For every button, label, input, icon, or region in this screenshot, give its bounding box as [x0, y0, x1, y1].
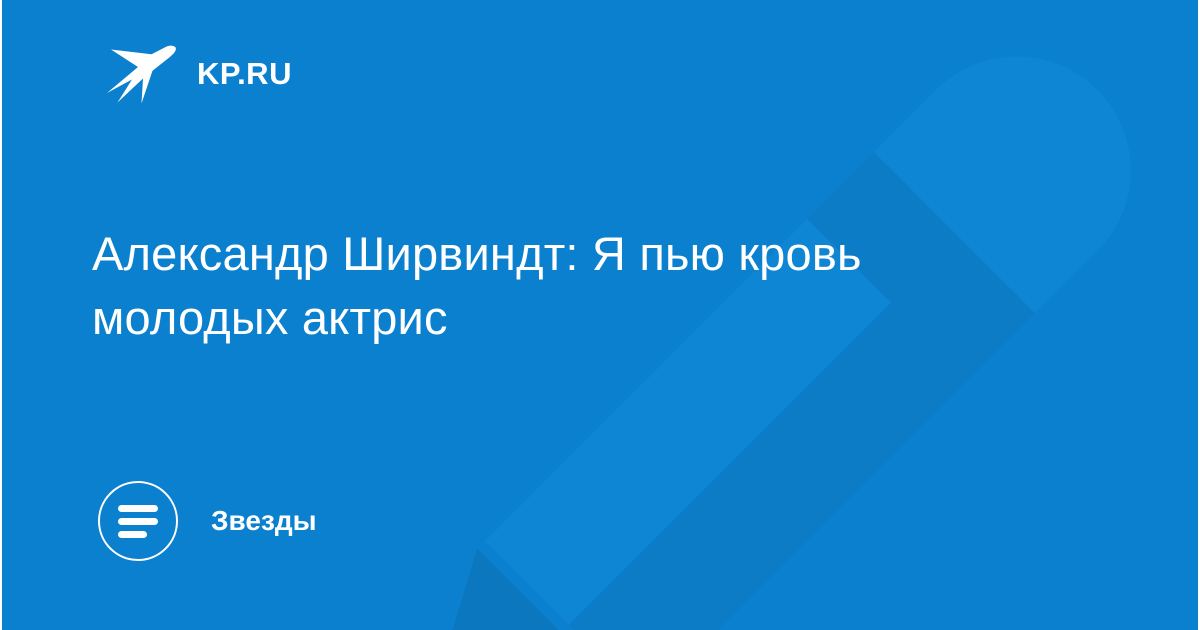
- swallow-bird-icon: [105, 37, 177, 109]
- hamburger-bar-3: [118, 531, 147, 538]
- hamburger-bar-1: [118, 505, 158, 512]
- hamburger-bar-2: [118, 518, 158, 525]
- rubric-badge[interactable]: Звезды: [98, 481, 317, 561]
- card-canvas: KP.RU Александр Ширвиндт: Я пью кровь мо…: [2, 0, 1198, 630]
- social-share-card: KP.RU Александр Ширвиндт: Я пью кровь мо…: [0, 0, 1200, 630]
- hamburger-lines-icon[interactable]: [98, 481, 178, 561]
- page-title: Александр Ширвиндт: Я пью кровь молодых …: [92, 222, 972, 350]
- brand-header: KP.RU: [105, 36, 292, 110]
- brand-name: KP.RU: [197, 58, 292, 89]
- rubric-label: Звезды: [211, 507, 317, 535]
